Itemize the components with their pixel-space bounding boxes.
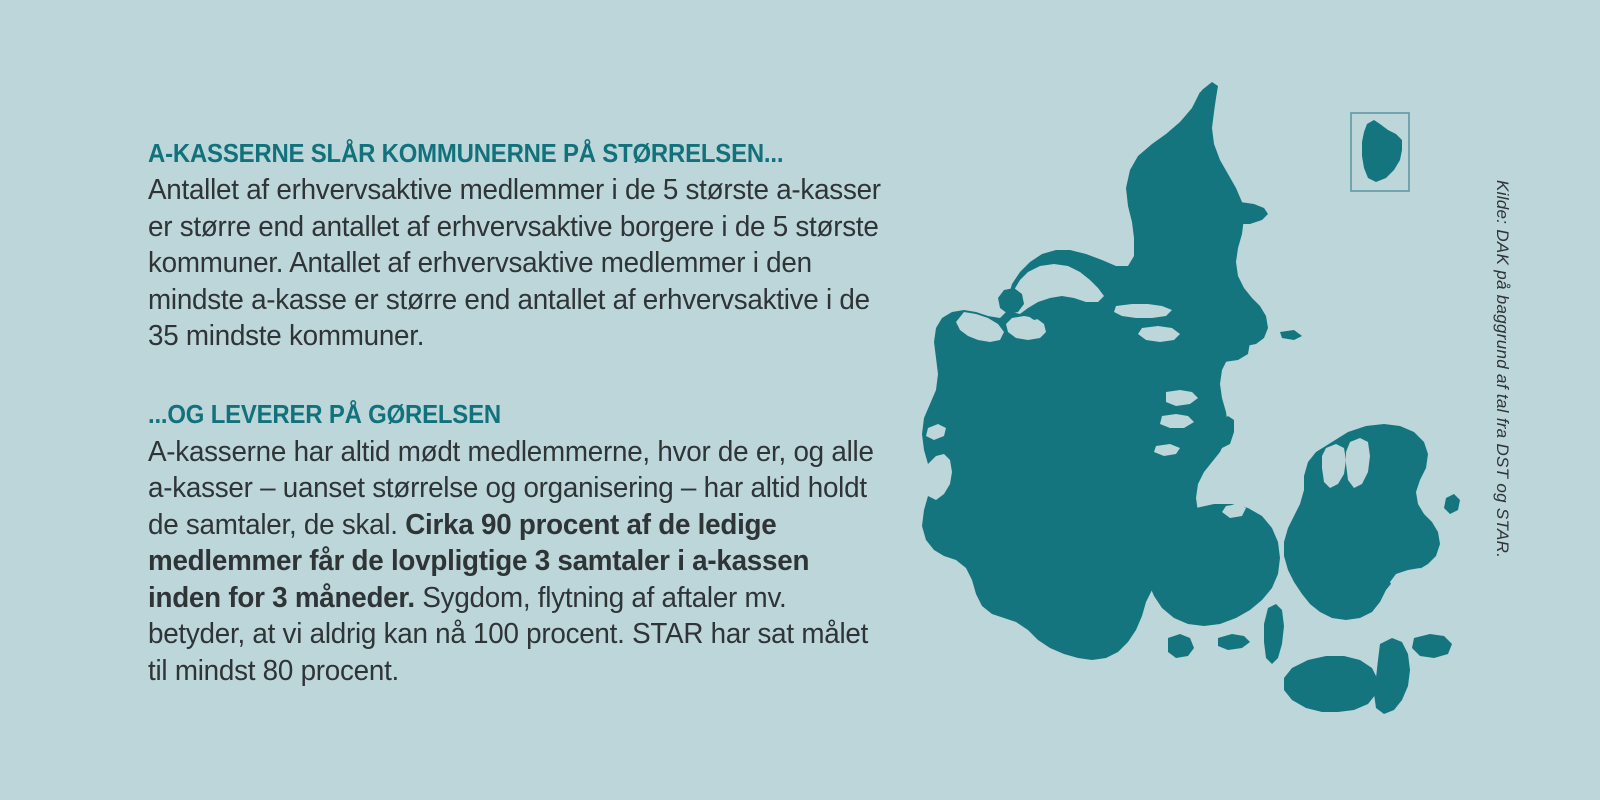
anholt-island: [1280, 330, 1302, 340]
infographic-canvas: A-KASSERNE SLÅR KOMMUNERNE PÅ STØRRELSEN…: [0, 0, 1600, 800]
aeroe-island: [1218, 634, 1250, 650]
map-landmass-group: [922, 82, 1460, 714]
body-stoerrelsen: Antallet af erhvervsaktive medlemmer i d…: [148, 172, 889, 355]
heading-stoerrelsen: A-KASSERNE SLÅR KOMMUNERNE PÅ STØRRELSEN…: [148, 138, 847, 168]
falster-island: [1374, 638, 1410, 714]
hven-island: [1444, 494, 1460, 514]
text-block-stoerrelsen: A-KASSERNE SLÅR KOMMUNERNE PÅ STØRRELSEN…: [148, 138, 908, 355]
bornholm-island: [1362, 120, 1402, 182]
langeland-island: [1264, 604, 1284, 664]
text-column: A-KASSERNE SLÅR KOMMUNERNE PÅ STØRRELSEN…: [148, 138, 908, 689]
heading-goerelsen: ...OG LEVERER PÅ GØRELSEN: [148, 399, 847, 429]
denmark-map: [880, 60, 1500, 740]
source-caption: Kilde: DAK på baggrund af tal fra DST og…: [1492, 180, 1512, 558]
body-goerelsen: A-kasserne har altid mødt medlemmerne, h…: [148, 434, 889, 690]
moen-island: [1412, 634, 1452, 658]
text-block-goerelsen: ...OG LEVERER PÅ GØRELSEN A-kasserne har…: [148, 399, 908, 690]
lolland-island: [1284, 656, 1378, 712]
skagen-spit: [1192, 82, 1218, 120]
als-island: [1168, 634, 1194, 658]
